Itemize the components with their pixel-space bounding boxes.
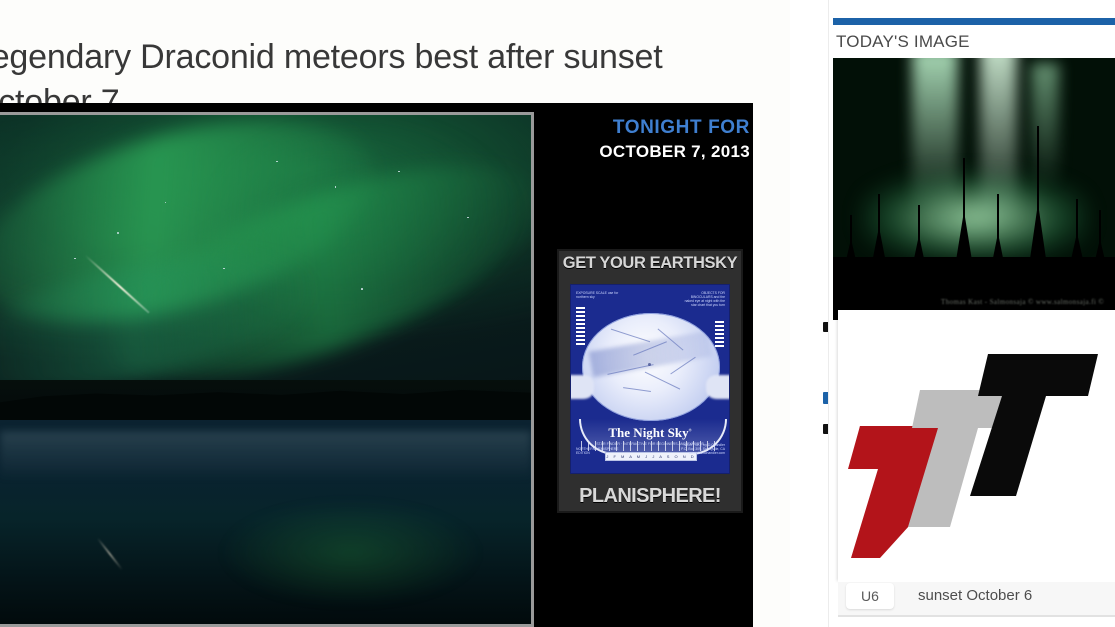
advert-top-text: GET YOUR EARTHSKY (563, 254, 737, 273)
caption-divider (838, 615, 1115, 617)
star (335, 186, 337, 188)
constellation-line (610, 328, 650, 342)
star (361, 288, 363, 290)
photo-watermark: Thomas Kast - Salmonsaja © www.salmonsaj… (941, 298, 1105, 307)
overlay-window[interactable] (838, 310, 1115, 582)
media-panel: TONIGHT FOR OCTOBER 7, 2013 GET YOUR EAR… (0, 103, 753, 627)
tree-silhouette (963, 158, 965, 273)
triple-t-logo (846, 328, 1106, 558)
todays-image-heading: TODAY'S IMAGE (836, 32, 970, 52)
pole-star (648, 363, 651, 366)
triple-t-logo-svg (846, 328, 1106, 558)
advert-bottom-text: PLANISPHERE! (579, 485, 721, 508)
star (165, 202, 167, 204)
aurora-ray (1031, 63, 1059, 189)
planisphere-card-image: EXPOSURE SCALE use for northern sky OBJE… (570, 284, 730, 474)
star (223, 268, 225, 270)
sidebar-top-accent-bar (833, 18, 1115, 25)
tree-silhouette (1037, 126, 1039, 273)
tonight-for-label: TONIGHT FOR (560, 117, 750, 139)
todays-image-photo[interactable]: Thomas Kast - Salmonsaja © www.salmonsaj… (833, 58, 1115, 320)
milky-way (589, 331, 713, 378)
tree-silhouette (850, 215, 852, 273)
star (74, 258, 76, 260)
caption-row: U6 sunset October 6 (838, 582, 1115, 615)
tree-silhouette (878, 194, 880, 273)
tree-silhouette (1099, 210, 1101, 273)
underlying-page-sliver (790, 0, 828, 627)
aurora-glow (861, 173, 1087, 262)
advert-scale-strip (576, 307, 585, 347)
constellation-line (644, 372, 679, 390)
tree-silhouette (1076, 199, 1078, 272)
planisphere-advert[interactable]: GET YOUR EARTHSKY EXPOSURE SCALE use for… (557, 249, 743, 513)
advert-corner-text-bl: NORTHERN HEMISPHERE EDITION (576, 447, 620, 455)
advert-scale-strip (715, 321, 724, 349)
aurora-meteor-photo[interactable] (0, 112, 534, 627)
caption-tag[interactable]: U6 (846, 583, 894, 609)
star-chart-dome (582, 313, 720, 421)
tree-silhouette (918, 205, 920, 273)
lake-green-reflection (223, 502, 478, 604)
caption-text: sunset October 6 (918, 583, 1032, 609)
tree-silhouette (997, 194, 999, 273)
constellation-line (623, 387, 650, 392)
article-pane: Legendary Draconid meteors best after su… (0, 0, 790, 627)
tonight-for-date: OCTOBER 7, 2013 (560, 142, 750, 162)
advert-corner-text-tr: OBJECTS FOR BINOCULARS and the naked eye… (681, 291, 725, 307)
chart-wing-right (706, 375, 730, 399)
tonight-for-block: TONIGHT FOR OCTOBER 7, 2013 (560, 117, 750, 162)
advert-corner-text-br: NIGHT SKY, by D.Chandler P.O. Box 309, S… (681, 443, 725, 455)
star (117, 232, 119, 234)
lake-sheen (0, 431, 531, 482)
advert-corner-text-tl: EXPOSURE SCALE use for northern sky (576, 291, 620, 299)
chart-wing-left (570, 375, 594, 399)
